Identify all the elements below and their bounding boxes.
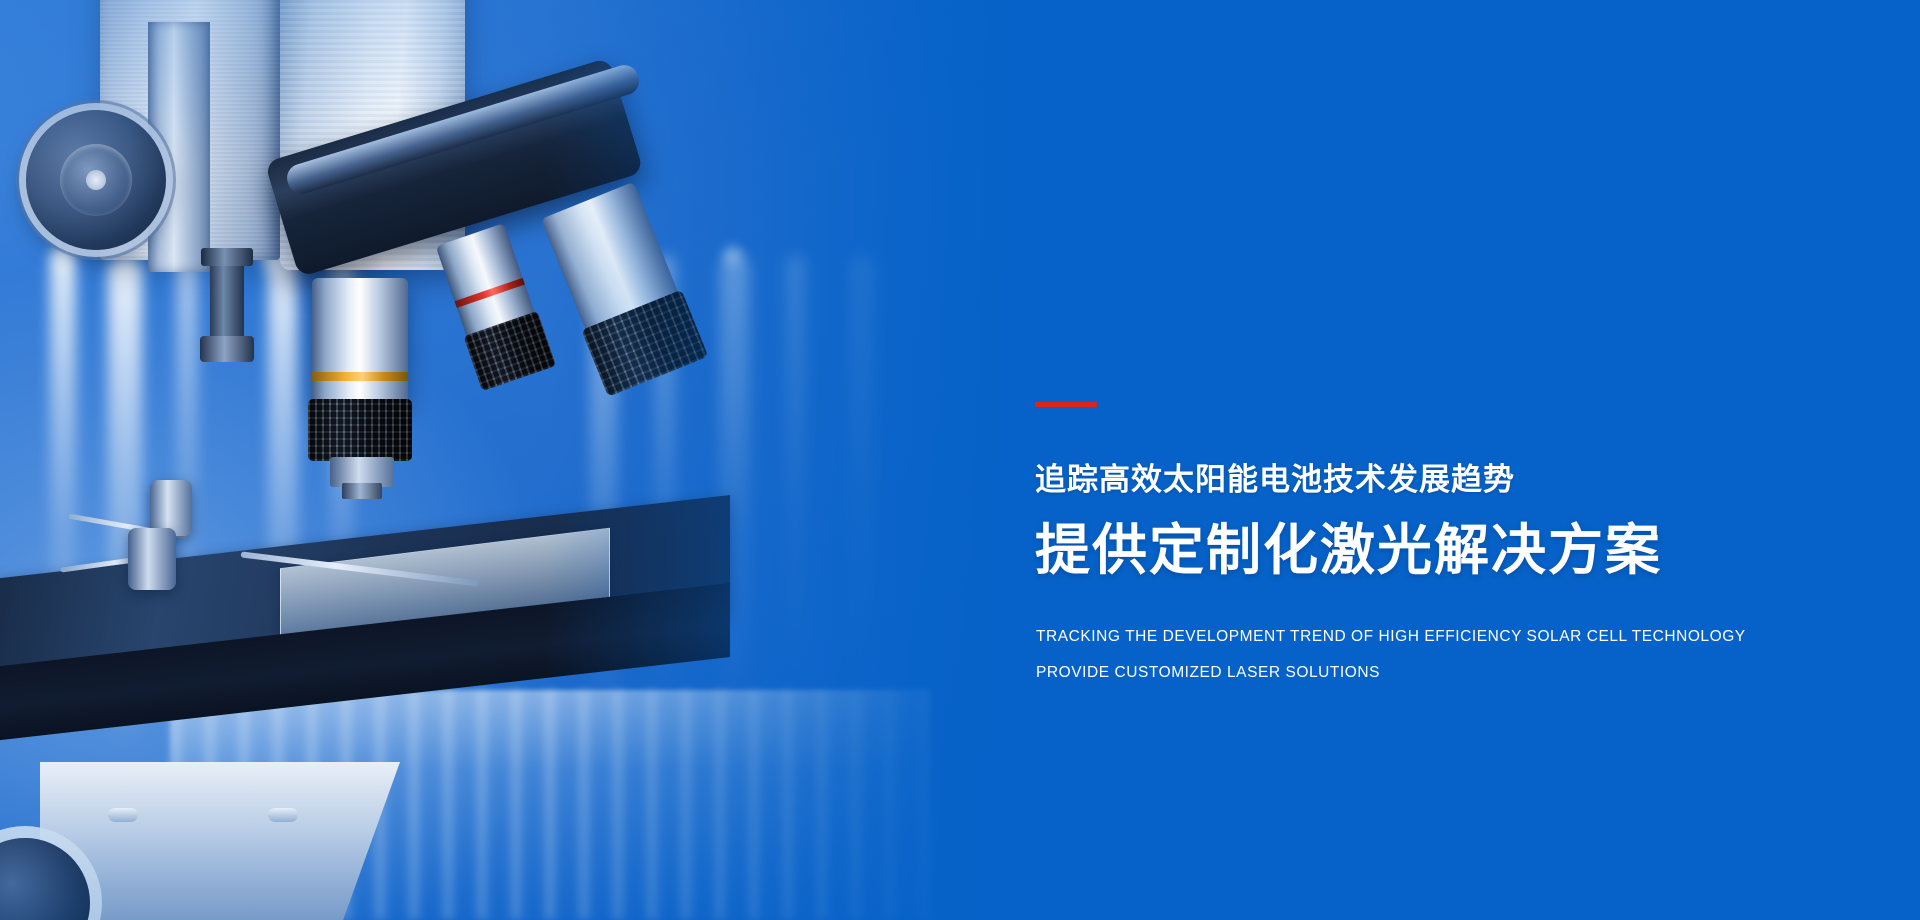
hero-headline-en: PROVIDE CUSTOMIZED LASER SOLUTIONS [1036, 664, 1380, 682]
objective-amber-band [312, 372, 408, 381]
light-flare [720, 243, 746, 269]
microscope-photo [0, 0, 1050, 920]
objective-lens-main [312, 278, 408, 403]
light-streak [786, 255, 806, 685]
thumbscrew [210, 258, 244, 348]
light-streak [850, 255, 876, 705]
hero-banner: 追踪高效太阳能电池技术发展趋势 提供定制化激光解决方案 TRACKING THE… [0, 0, 1920, 920]
base-screw [268, 808, 298, 822]
hero-subheadline-en: TRACKING THE DEVELOPMENT TREND OF HIGH E… [1036, 628, 1746, 646]
microscope-base [40, 762, 400, 920]
hero-subheadline-cn: 追踪高效太阳能电池技术发展趋势 [1035, 458, 1905, 502]
base-screw [108, 808, 138, 822]
accent-rule [1035, 402, 1097, 407]
hero-headline-cn: 提供定制化激光解决方案 [1035, 512, 1905, 588]
focus-knob [26, 110, 166, 250]
objective-tip-end [342, 483, 382, 499]
objective-knurled-collar [308, 399, 412, 461]
objective-red-band [455, 278, 525, 308]
hero-copy: 追踪高效太阳能电池技术发展趋势 提供定制化激光解决方案 TRACKING THE… [1035, 0, 1905, 920]
stage-clamp-post [128, 528, 176, 590]
